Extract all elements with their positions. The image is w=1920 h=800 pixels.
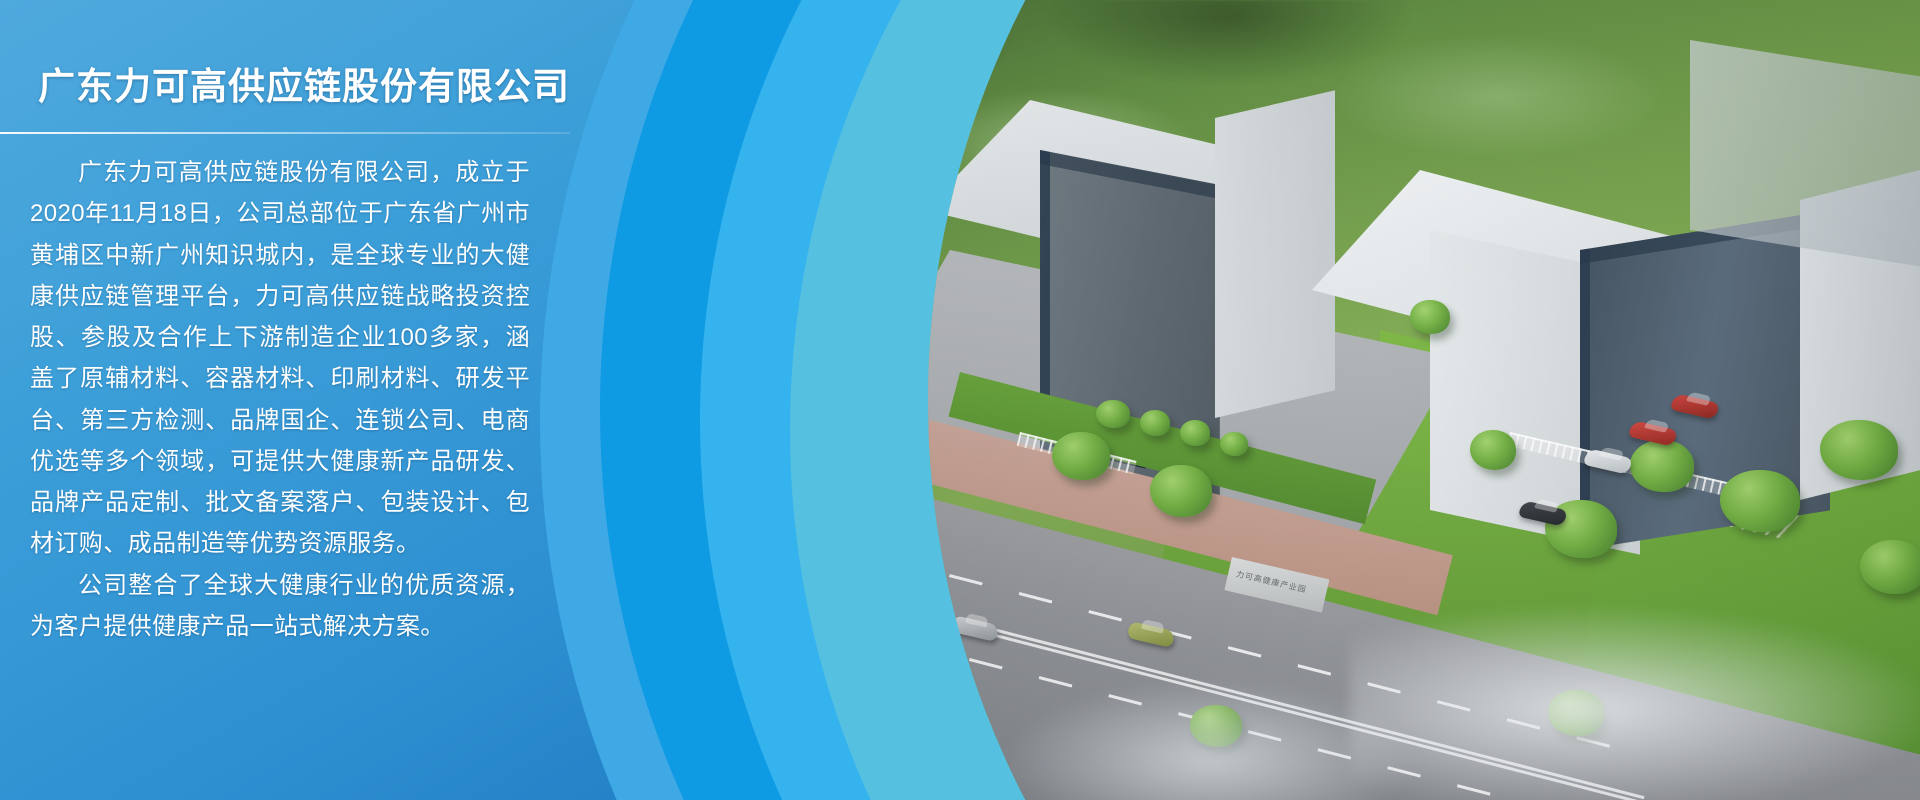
background-building <box>1690 40 1920 266</box>
campus-aerial-photo-content: 力可高健康产业园 <box>928 0 1920 800</box>
street-tree <box>1470 430 1516 470</box>
park-tree <box>1720 470 1800 532</box>
atmospheric-haze-bottom <box>1000 680 1420 800</box>
site-entrance-sign-text: 力可高健康产业园 <box>1235 569 1308 596</box>
page-title: 广东力可高供应链股份有限公司 <box>0 0 620 110</box>
park-tree <box>1630 440 1694 492</box>
atmospheric-haze-right <box>1350 600 1920 800</box>
shrub <box>1180 420 1210 446</box>
street-tree <box>1150 465 1212 517</box>
intro-paragraph-2: 公司整合了全球大健康行业的优质资源，为客户提供健康产品一站式解决方案。 <box>30 565 530 648</box>
street-tree <box>1052 432 1110 480</box>
shrub <box>1410 300 1450 334</box>
main-tower-side-facade <box>1215 90 1335 418</box>
intro-paragraph-1: 广东力可高供应链股份有限公司，成立于2020年11月18日，公司总部位于广东省广… <box>30 152 530 565</box>
company-profile-banner: 力可高健康产业园 广东力可高供应链股份有限公司 广东力可高供应链股份有限公司，成… <box>0 0 1920 800</box>
shrub <box>1096 400 1130 428</box>
company-intro-text: 广东力可高供应链股份有限公司，成立于2020年11月18日，公司总部位于广东省广… <box>0 134 530 647</box>
campus-aerial-photo: 力可高健康产业园 <box>928 0 1920 800</box>
shrub <box>1140 410 1170 436</box>
shrub <box>1220 432 1248 456</box>
park-tree <box>1820 420 1898 480</box>
intro-text-panel: 广东力可高供应链股份有限公司 广东力可高供应链股份有限公司，成立于2020年11… <box>0 0 620 647</box>
